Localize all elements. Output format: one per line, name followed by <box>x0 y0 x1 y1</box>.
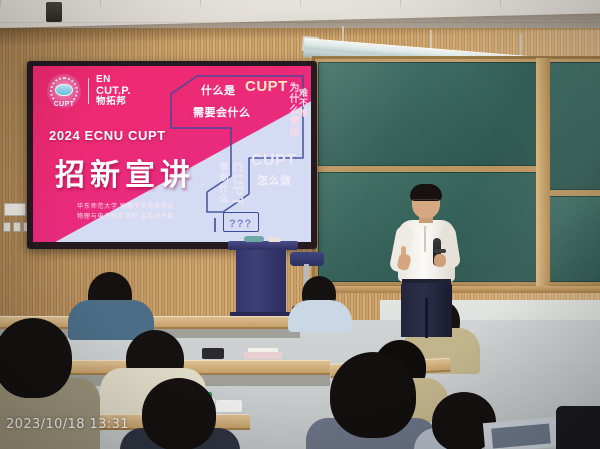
audience-head <box>0 318 72 398</box>
wall-switch-2[interactable] <box>13 222 21 232</box>
audience-head <box>142 378 216 449</box>
slide: CUPT EN CUT.P. 物拓邦 2024 ECNU CUPT 招新宣讲 华… <box>33 66 311 242</box>
callout-what-is: 什么是 <box>201 82 236 98</box>
wall-control-panel[interactable] <box>4 203 26 216</box>
bag-on-desk <box>556 406 600 449</box>
audience-body <box>288 300 352 332</box>
cupt-badge-icon: CUPT <box>47 74 81 108</box>
callout-cupt-3: CUPT <box>229 162 246 207</box>
audience-head <box>330 352 416 438</box>
callout-what-learn: 学到什么 <box>215 162 229 204</box>
wall-switch-1[interactable] <box>3 222 11 232</box>
slide-logo: CUPT EN CUT.P. 物拓邦 <box>47 74 131 108</box>
slide-footer: 华东师范大学 物理学术竞赛协会 物理与电子科学学院 孟宪承书院 <box>77 202 174 222</box>
podium <box>236 246 286 318</box>
paper-on-desk <box>244 352 282 359</box>
callout-cupt-1: CUPT <box>245 78 288 95</box>
callout-cupt-2: CUPT <box>251 152 297 170</box>
slide-footer-line-2: 物理与电子科学学院 孟宪承书院 <box>77 212 174 222</box>
slide-footer-line-1: 华东师范大学 物理学术竞赛协会 <box>77 202 174 212</box>
logo-divider <box>88 78 89 104</box>
speaker-presenter <box>392 186 462 336</box>
glasses-icon <box>413 199 439 204</box>
callout-need-skills: 需要会什么 <box>193 104 251 120</box>
lecture-hall-screenshot: CUPT EN CUT.P. 物拓邦 2024 ECNU CUPT 招新宣讲 华… <box>0 0 600 449</box>
wristwatch-icon <box>434 249 446 253</box>
brand-line-3: 物拓邦 <box>96 97 131 107</box>
callout-question-marks: ??? <box>229 218 252 230</box>
cupt-badge-label: CUPT <box>47 101 81 109</box>
callout-how-to-do: 怎么做 <box>257 172 292 188</box>
phone-on-desk[interactable] <box>202 348 224 359</box>
presentation-screen[interactable]: CUPT EN CUT.P. 物拓邦 2024 ECNU CUPT 招新宣讲 华… <box>33 66 311 242</box>
ceiling-speaker-box <box>46 2 62 22</box>
slide-subtitle-en: 2024 ECNU CUPT <box>49 128 166 143</box>
brand-text: EN CUT.P. 物拓邦 <box>96 75 131 106</box>
timestamp-overlay: 2023/10/18 13:31 <box>6 417 129 432</box>
podium-top <box>228 241 298 250</box>
phone-on-desk[interactable] <box>216 400 242 412</box>
callout-is-it-hard: 难不难 <box>297 88 310 118</box>
